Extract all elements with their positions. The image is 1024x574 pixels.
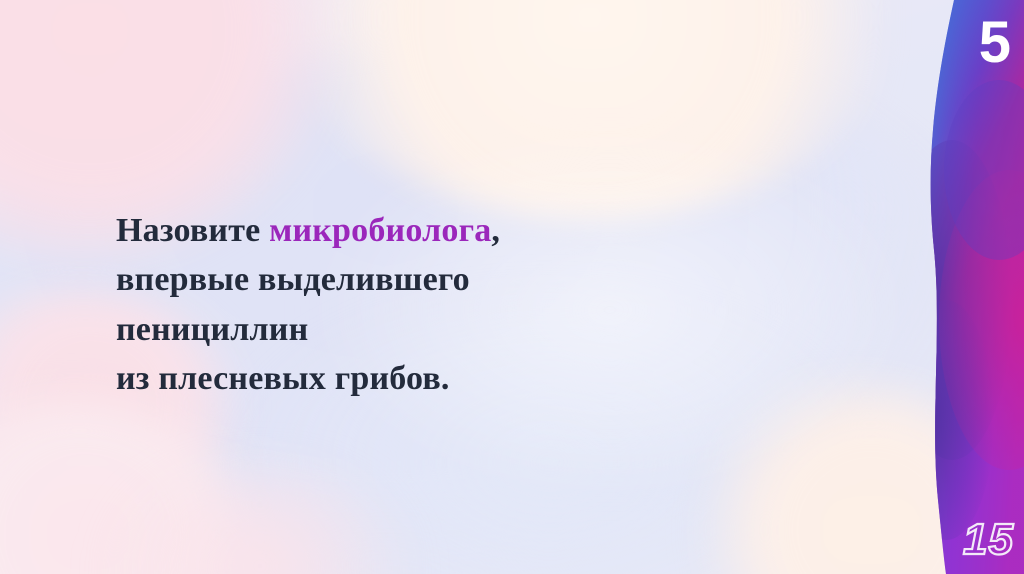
- question-line-1-suffix: ,: [491, 212, 500, 249]
- question-line-2: впервые выделившего: [116, 255, 756, 304]
- quiz-slide: Назовите микробиолога, впервые выделивше…: [0, 0, 1024, 574]
- question-line-1: Назовите микробиолога,: [116, 206, 756, 255]
- question-text: Назовите микробиолога, впервые выделивше…: [116, 206, 756, 403]
- gradient-band-shape: [904, 0, 1024, 574]
- question-accent-word: микробиолога: [269, 212, 491, 249]
- slide-number-bottom: 15: [963, 518, 1014, 562]
- question-line-1-prefix: Назовите: [116, 212, 269, 249]
- question-line-3: пенициллин: [116, 305, 756, 354]
- question-line-4: из плесневых грибов.: [116, 354, 756, 403]
- slide-number-top: 5: [979, 14, 1010, 72]
- decorative-gradient-band: 5 15: [904, 0, 1024, 574]
